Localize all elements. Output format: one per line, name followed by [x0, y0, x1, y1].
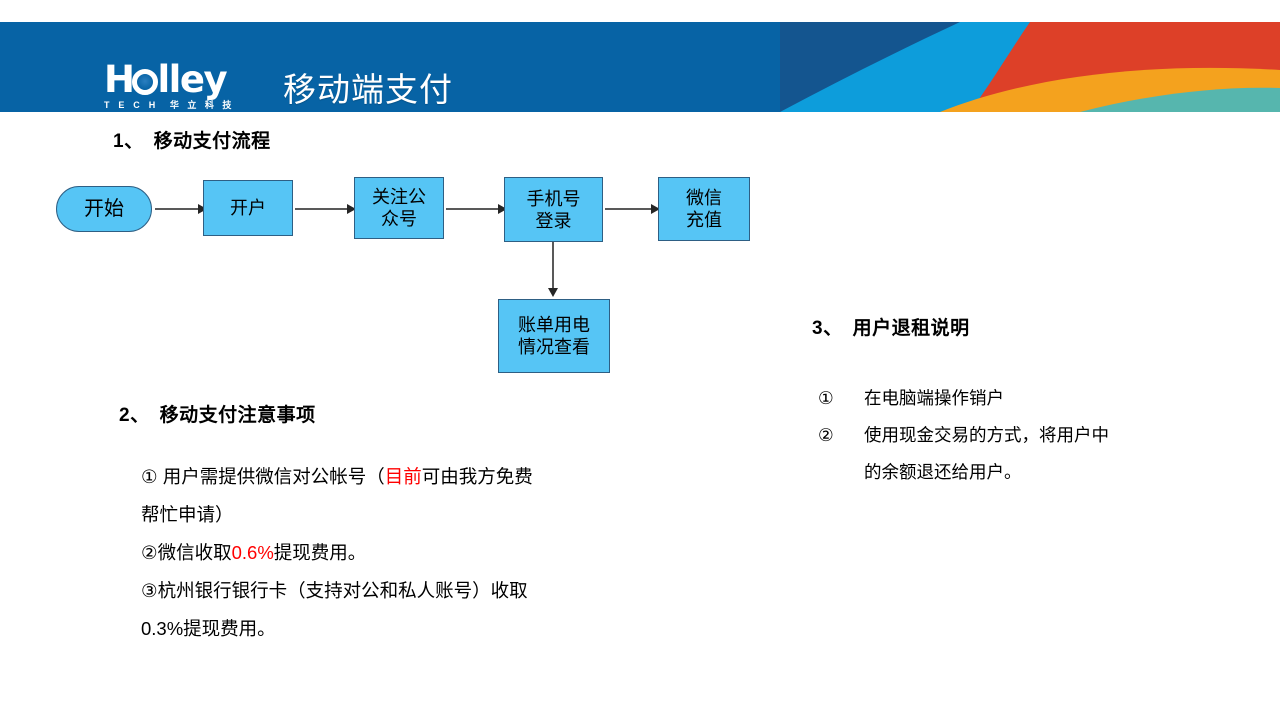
- note-1-marker: ①: [141, 466, 158, 487]
- logo-letters-lle: lle: [157, 58, 203, 101]
- refund-item-1: ① 在电脑端操作销户: [818, 380, 1238, 417]
- note-2-marker: ②: [141, 542, 158, 563]
- page-title: 移动端支付: [283, 70, 453, 110]
- logo-sub-chinese: 华 立 科 技: [170, 100, 235, 110]
- flow-node-start[interactable]: 开始: [56, 186, 152, 232]
- holley-logo: Hlley T E C H 华 立 科 技: [104, 62, 264, 112]
- section-2-number: 2、: [119, 405, 150, 426]
- note-item-1: ① 用户需提供微信对公帐号（目前可由我方免费: [141, 458, 641, 496]
- note-item-3-cont: 0.3%提现费用。: [141, 610, 641, 648]
- note-1-text-post: 可由我方免费: [422, 466, 533, 487]
- note-3-cont-text: 0.3%提现费用。: [141, 618, 276, 639]
- flow-connector-login-to-bill: [552, 242, 554, 292]
- section-2-title: 移动支付注意事项: [160, 405, 316, 426]
- header-decorative-swoosh: [780, 22, 1280, 112]
- refund-1-marker: ①: [818, 380, 864, 417]
- note-3-text-pre: 杭州银行银行卡（支持对公和私人账号）收取: [158, 580, 528, 601]
- flow-node-follow-official-account[interactable]: 关注公 众号: [354, 177, 444, 239]
- section-3-notes-list: ① 在电脑端操作销户 ② 使用现金交易的方式，将用户中 的余额退还给用户。: [818, 380, 1238, 491]
- logo-sub-latin: T E C H: [104, 100, 158, 110]
- section-1-heading: 1、移动支付流程: [113, 126, 271, 153]
- refund-2-text-line2: 的余额退还给用户。: [864, 454, 1109, 491]
- section-1-title: 移动支付流程: [154, 131, 271, 152]
- note-1-highlight: 目前: [385, 466, 422, 487]
- note-2-text-pre: 微信收取: [158, 542, 232, 563]
- refund-2-text-block: 使用现金交易的方式，将用户中 的余额退还给用户。: [864, 417, 1109, 491]
- note-1-cont-text: 帮忙申请）: [141, 504, 234, 525]
- note-item-2: ②微信收取0.6%提现费用。: [141, 534, 641, 572]
- section-3-title: 用户退租说明: [853, 318, 970, 339]
- section-1-number: 1、: [113, 131, 144, 152]
- refund-2-text-line1: 使用现金交易的方式，将用户中: [864, 417, 1109, 454]
- note-2-highlight: 0.6%: [232, 542, 274, 563]
- flow-node-wechat-recharge[interactable]: 微信 充值: [658, 177, 750, 241]
- logo-subline: T E C H 华 立 科 技: [104, 100, 264, 111]
- header-band: Hlley T E C H 华 立 科 技 移动端支付: [0, 22, 1280, 112]
- note-1-text-pre: 用户需提供微信对公帐号（: [158, 466, 385, 487]
- note-3-marker: ③: [141, 580, 158, 601]
- note-item-1-cont: 帮忙申请）: [141, 496, 641, 534]
- flow-connector-open-to-follow: [295, 208, 350, 210]
- flow-connector-start-to-open: [155, 208, 201, 210]
- flow-node-phone-login[interactable]: 手机号 登录: [504, 177, 603, 242]
- section-2-notes-list: ① 用户需提供微信对公帐号（目前可由我方免费 帮忙申请） ②微信收取0.6%提现…: [141, 458, 641, 648]
- section-2-heading: 2、移动支付注意事项: [119, 400, 316, 427]
- logo-wordmark: Hlley: [104, 62, 264, 98]
- flow-node-bill-usage-view[interactable]: 账单用电 情况查看: [498, 299, 610, 373]
- flow-connector-login-to-recharge: [605, 208, 654, 210]
- note-2-text-post: 提现费用。: [274, 542, 367, 563]
- flow-node-open-account[interactable]: 开户: [203, 180, 293, 236]
- logo-letter-y: y: [203, 58, 226, 101]
- refund-2-marker: ②: [818, 417, 864, 454]
- refund-item-2: ② 使用现金交易的方式，将用户中 的余额退还给用户。: [818, 417, 1238, 491]
- section-3-heading: 3、用户退租说明: [812, 313, 970, 340]
- logo-o-ring-icon: [132, 69, 158, 95]
- slide-root: Hlley T E C H 华 立 科 技 移动端支付 1、移动支付流程 开始 …: [0, 0, 1280, 720]
- section-3-number: 3、: [812, 318, 843, 339]
- logo-letter-h: H: [104, 58, 133, 101]
- flow-connector-follow-to-login: [446, 208, 501, 210]
- note-item-3: ③杭州银行银行卡（支持对公和私人账号）收取: [141, 572, 641, 610]
- refund-1-text: 在电脑端操作销户: [864, 380, 1238, 417]
